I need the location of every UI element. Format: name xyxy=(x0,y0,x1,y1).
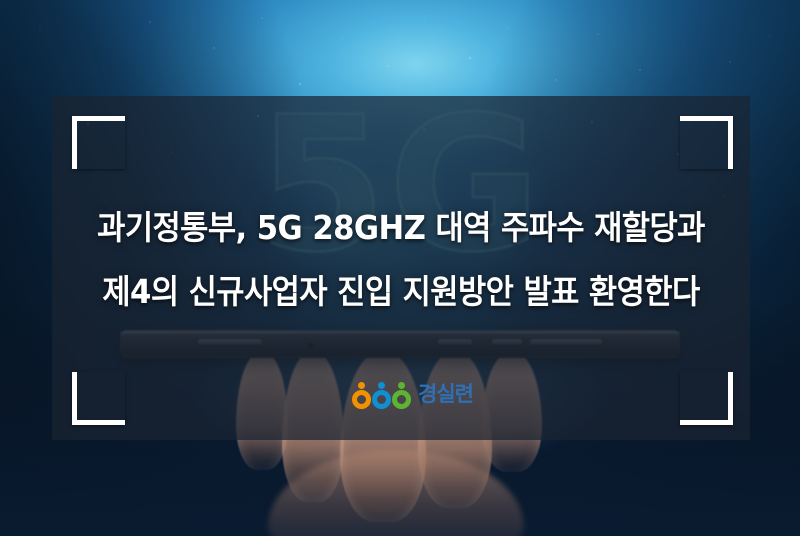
logo-ring xyxy=(392,390,411,409)
corner-bracket-top-left xyxy=(72,116,125,169)
logo-person-orange xyxy=(352,382,371,409)
corner-bracket-bottom-right xyxy=(680,372,733,425)
logo-ring xyxy=(372,390,391,409)
logo-person-blue xyxy=(372,382,391,409)
logo: 경실련 xyxy=(352,382,473,409)
logo-mark-icon xyxy=(352,382,411,409)
logo-head xyxy=(358,382,365,389)
logo-head xyxy=(378,382,385,389)
logo-head xyxy=(398,382,405,389)
logo-person-green xyxy=(392,382,411,409)
logo-text: 경실련 xyxy=(418,384,473,407)
corner-bracket-bottom-left xyxy=(72,372,125,425)
corner-bracket-top-right xyxy=(680,116,733,169)
logo-ring xyxy=(352,390,371,409)
news-card-image: 5G xyxy=(0,0,800,536)
